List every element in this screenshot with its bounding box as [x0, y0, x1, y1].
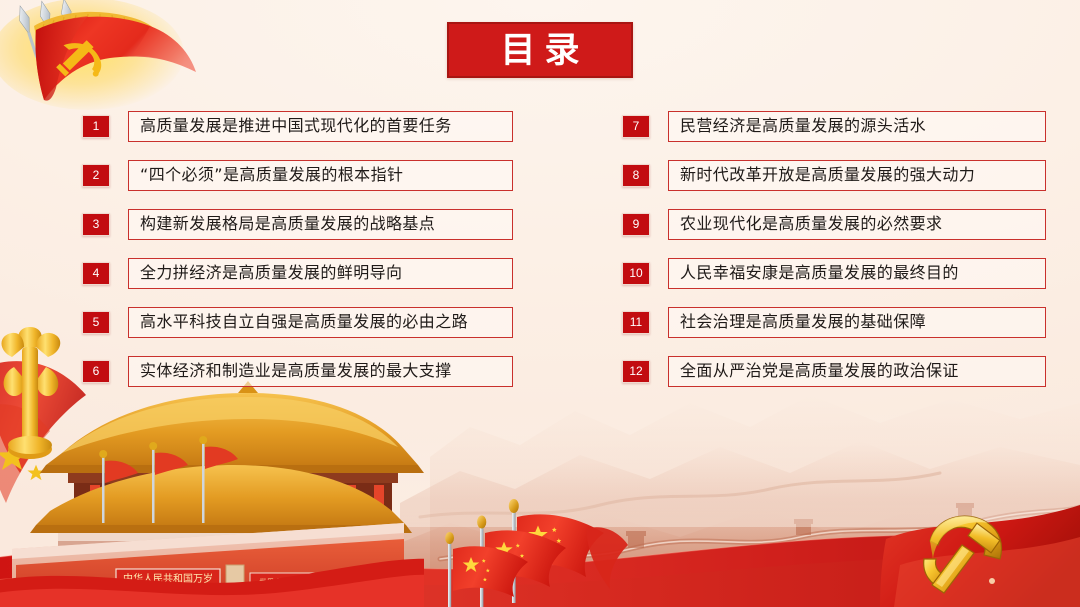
list-item[interactable]: 6 实体经济和制造业是高质量发展的最大支撑 — [82, 355, 602, 387]
page-title-text: 目录 — [491, 33, 588, 68]
toc-column-left: 1 高质量发展是推进中国式现代化的首要任务 2 “四个必须”是高质量发展的根本指… — [82, 110, 602, 410]
svg-text:中华人民共和国万岁: 中华人民共和国万岁 — [123, 572, 213, 585]
item-text-box[interactable]: 民营经济是高质量发展的源头活水 — [668, 111, 1046, 142]
item-label: “四个必须”是高质量发展的根本指针 — [140, 167, 403, 183]
page-title: 目录 — [447, 22, 633, 78]
list-item[interactable]: 4 全力拼经济是高质量发展的鲜明导向 — [82, 257, 602, 289]
toc-column-right: 7 民营经济是高质量发展的源头活水 8 新时代改革开放是高质量发展的强大动力 9… — [622, 110, 1080, 410]
item-text-box[interactable]: 新时代改革开放是高质量发展的强大动力 — [668, 160, 1046, 191]
list-item[interactable]: 1 高质量发展是推进中国式现代化的首要任务 — [82, 110, 602, 142]
item-label: 构建新发展格局是高质量发展的战略基点 — [140, 216, 435, 232]
item-number-badge: 10 — [622, 262, 650, 285]
list-item[interactable]: 10 人民幸福安康是高质量发展的最终目的 — [622, 257, 1080, 289]
slide-canvas: 中华人民共和国万岁 世界人民大团结万岁 — [0, 0, 1080, 607]
item-text-box[interactable]: 社会治理是高质量发展的基础保障 — [668, 307, 1046, 338]
item-label: 人民幸福安康是高质量发展的最终目的 — [680, 265, 959, 281]
item-label: 社会治理是高质量发展的基础保障 — [680, 314, 926, 330]
item-number-badge: 4 — [82, 262, 110, 285]
item-label: 全面从严治党是高质量发展的政治保证 — [680, 363, 959, 379]
item-number-badge: 8 — [622, 164, 650, 187]
list-item[interactable]: 11 社会治理是高质量发展的基础保障 — [622, 306, 1080, 338]
red-ribbon-sweep — [0, 497, 1080, 607]
item-number-badge: 2 — [82, 164, 110, 187]
item-label: 高水平科技自立自强是高质量发展的必由之路 — [140, 314, 468, 330]
item-label: 全力拼经济是高质量发展的鲜明导向 — [140, 265, 402, 281]
item-label: 实体经济和制造业是高质量发展的最大支撑 — [140, 363, 452, 379]
item-number-badge: 6 — [82, 360, 110, 383]
list-item[interactable]: 3 构建新发展格局是高质量发展的战略基点 — [82, 208, 602, 240]
item-text-box[interactable]: 实体经济和制造业是高质量发展的最大支撑 — [128, 356, 513, 387]
item-label: 农业现代化是高质量发展的必然要求 — [680, 216, 942, 232]
item-number-badge: 9 — [622, 213, 650, 236]
list-item[interactable]: 8 新时代改革开放是高质量发展的强大动力 — [622, 159, 1080, 191]
cpc-party-flag-icon — [0, 0, 210, 116]
chinese-national-flags-illustration — [408, 497, 658, 607]
item-label: 新时代改革开放是高质量发展的强大动力 — [680, 167, 975, 183]
list-item[interactable]: 9 农业现代化是高质量发展的必然要求 — [622, 208, 1080, 240]
item-label: 民营经济是高质量发展的源头活水 — [680, 118, 926, 134]
item-text-box[interactable]: 人民幸福安康是高质量发展的最终目的 — [668, 258, 1046, 289]
item-text-box[interactable]: 构建新发展格局是高质量发展的战略基点 — [128, 209, 513, 240]
item-text-box[interactable]: 高质量发展是推进中国式现代化的首要任务 — [128, 111, 513, 142]
hammer-sickle-emblem-icon — [880, 487, 1080, 607]
item-text-box[interactable]: 高水平科技自立自强是高质量发展的必由之路 — [128, 307, 513, 338]
list-item[interactable]: 12 全面从严治党是高质量发展的政治保证 — [622, 355, 1080, 387]
item-number-badge: 12 — [622, 360, 650, 383]
item-text-box[interactable]: “四个必须”是高质量发展的根本指针 — [128, 160, 513, 191]
item-label: 高质量发展是推进中国式现代化的首要任务 — [140, 118, 452, 134]
item-number-badge: 5 — [82, 311, 110, 334]
list-item[interactable]: 2 “四个必须”是高质量发展的根本指针 — [82, 159, 602, 191]
item-text-box[interactable]: 全面从严治党是高质量发展的政治保证 — [668, 356, 1046, 387]
table-of-contents: 1 高质量发展是推进中国式现代化的首要任务 2 “四个必须”是高质量发展的根本指… — [0, 110, 1080, 410]
item-number-badge: 1 — [82, 115, 110, 138]
item-text-box[interactable]: 农业现代化是高质量发展的必然要求 — [668, 209, 1046, 240]
item-number-badge: 3 — [82, 213, 110, 236]
item-text-box[interactable]: 全力拼经济是高质量发展的鲜明导向 — [128, 258, 513, 289]
svg-text:世界人民大团结万岁: 世界人民大团结万岁 — [259, 577, 327, 587]
item-number-badge: 11 — [622, 311, 650, 334]
list-item[interactable]: 5 高水平科技自立自强是高质量发展的必由之路 — [82, 306, 602, 338]
item-number-badge: 7 — [622, 115, 650, 138]
list-item[interactable]: 7 民营经济是高质量发展的源头活水 — [622, 110, 1080, 142]
